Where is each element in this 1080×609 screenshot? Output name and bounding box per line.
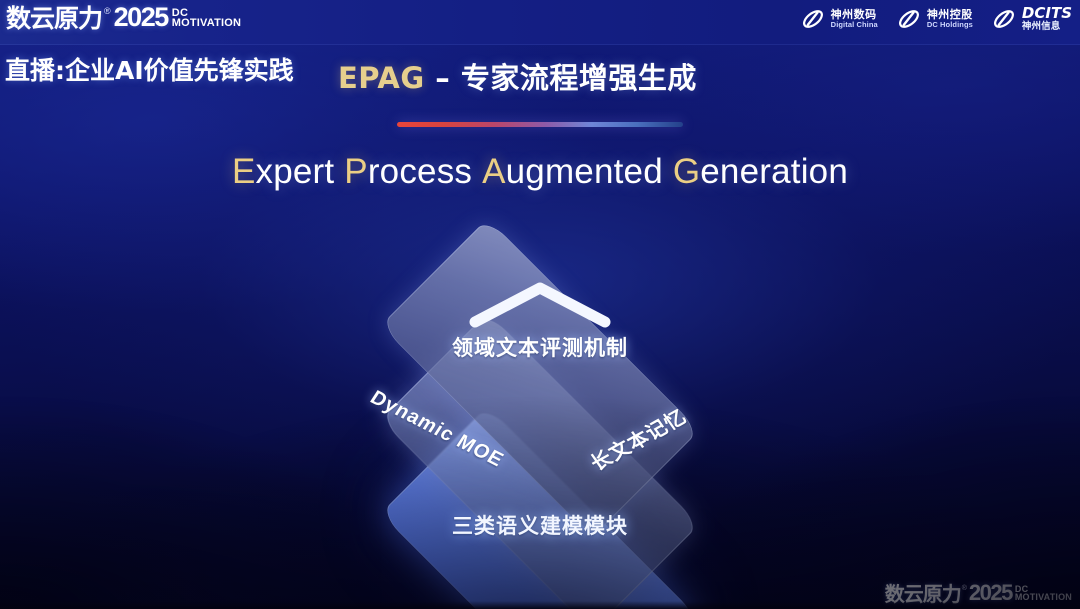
subtitle-rest-generation: eneration bbox=[700, 152, 848, 191]
headline-chinese: 专家流程增强生成 bbox=[461, 61, 697, 95]
brand-year: 2025 bbox=[114, 4, 168, 31]
logo-dcits: DCITS 神州信息 bbox=[991, 6, 1072, 32]
logo-label-en: 神州信息 bbox=[1022, 22, 1072, 32]
layer-label-bottom: 三类语义建模模块 bbox=[452, 510, 628, 540]
expanded-acronym-subtitle: Expert Process Augmented Generation bbox=[0, 152, 1080, 192]
chevron-up-icon bbox=[465, 278, 615, 330]
gradient-divider bbox=[397, 122, 683, 127]
swirl-logo-icon bbox=[991, 6, 1017, 32]
subtitle-cap-p: P bbox=[344, 152, 368, 191]
logo-digital-china: 神州数码 Digital China bbox=[800, 6, 878, 32]
logo-dc-holdings: 神州控股 DC Holdings bbox=[896, 6, 973, 32]
swirl-logo-icon bbox=[800, 6, 826, 32]
swirl-logo-icon bbox=[896, 6, 922, 32]
watermark-registered-mark: ® bbox=[962, 585, 967, 592]
layer-plane-top bbox=[380, 218, 699, 537]
subtitle-space-3 bbox=[663, 152, 673, 191]
logo-label-en: DC Holdings bbox=[927, 21, 973, 29]
logo-label-en: Digital China bbox=[831, 21, 878, 29]
brand-motivation-label: MOTIVATION bbox=[172, 18, 241, 29]
subtitle-rest-augmented: ugmented bbox=[506, 152, 663, 191]
layer-label-top: 领域文本评测机制 bbox=[452, 332, 628, 362]
brand-name-cn: 数云原力 bbox=[6, 6, 102, 31]
subtitle-space-1 bbox=[334, 152, 344, 191]
brand-logo-top: 数云原力 ® 2025 DC MOTIVATION bbox=[6, 4, 241, 31]
slide-headline: EPAG – 专家流程增强生成 bbox=[338, 55, 697, 97]
layered-architecture-diagram: 领域文本评测机制 Dynamic MOE 长文本记忆 三类语义建模模块 bbox=[276, 228, 804, 580]
bottom-edge-shade bbox=[0, 601, 1080, 609]
subtitle-space-2 bbox=[472, 152, 482, 191]
subtitle-cap-a: A bbox=[482, 152, 506, 191]
headline-acronym: EPAG bbox=[338, 61, 425, 95]
subtitle-rest-expert: xpert bbox=[256, 152, 335, 191]
subtitle-cap-e: E bbox=[232, 152, 256, 191]
live-stream-title: 直播:企业AI价值先锋实践 bbox=[5, 51, 294, 87]
diagram-layer-top[interactable] bbox=[276, 228, 804, 528]
subtitle-cap-g: G bbox=[673, 152, 700, 191]
logo-label-cn: DCITS bbox=[1022, 6, 1072, 22]
top-banner: 数云原力 ® 2025 DC MOTIVATION bbox=[0, 0, 1080, 45]
watermark-dc-motivation: DC MOTIVATION bbox=[1015, 585, 1072, 602]
subtitle-rest-process: rocess bbox=[368, 152, 472, 191]
brand-registered-mark: ® bbox=[104, 7, 111, 16]
headline-dash: – bbox=[425, 61, 461, 95]
brand-dc-motivation: DC MOTIVATION bbox=[172, 8, 241, 29]
partner-logo-group: 神州数码 Digital China 神州控股 DC Holdings bbox=[800, 6, 1072, 32]
slide-canvas: 数云原力 ® 2025 DC MOTIVATION bbox=[0, 0, 1080, 609]
